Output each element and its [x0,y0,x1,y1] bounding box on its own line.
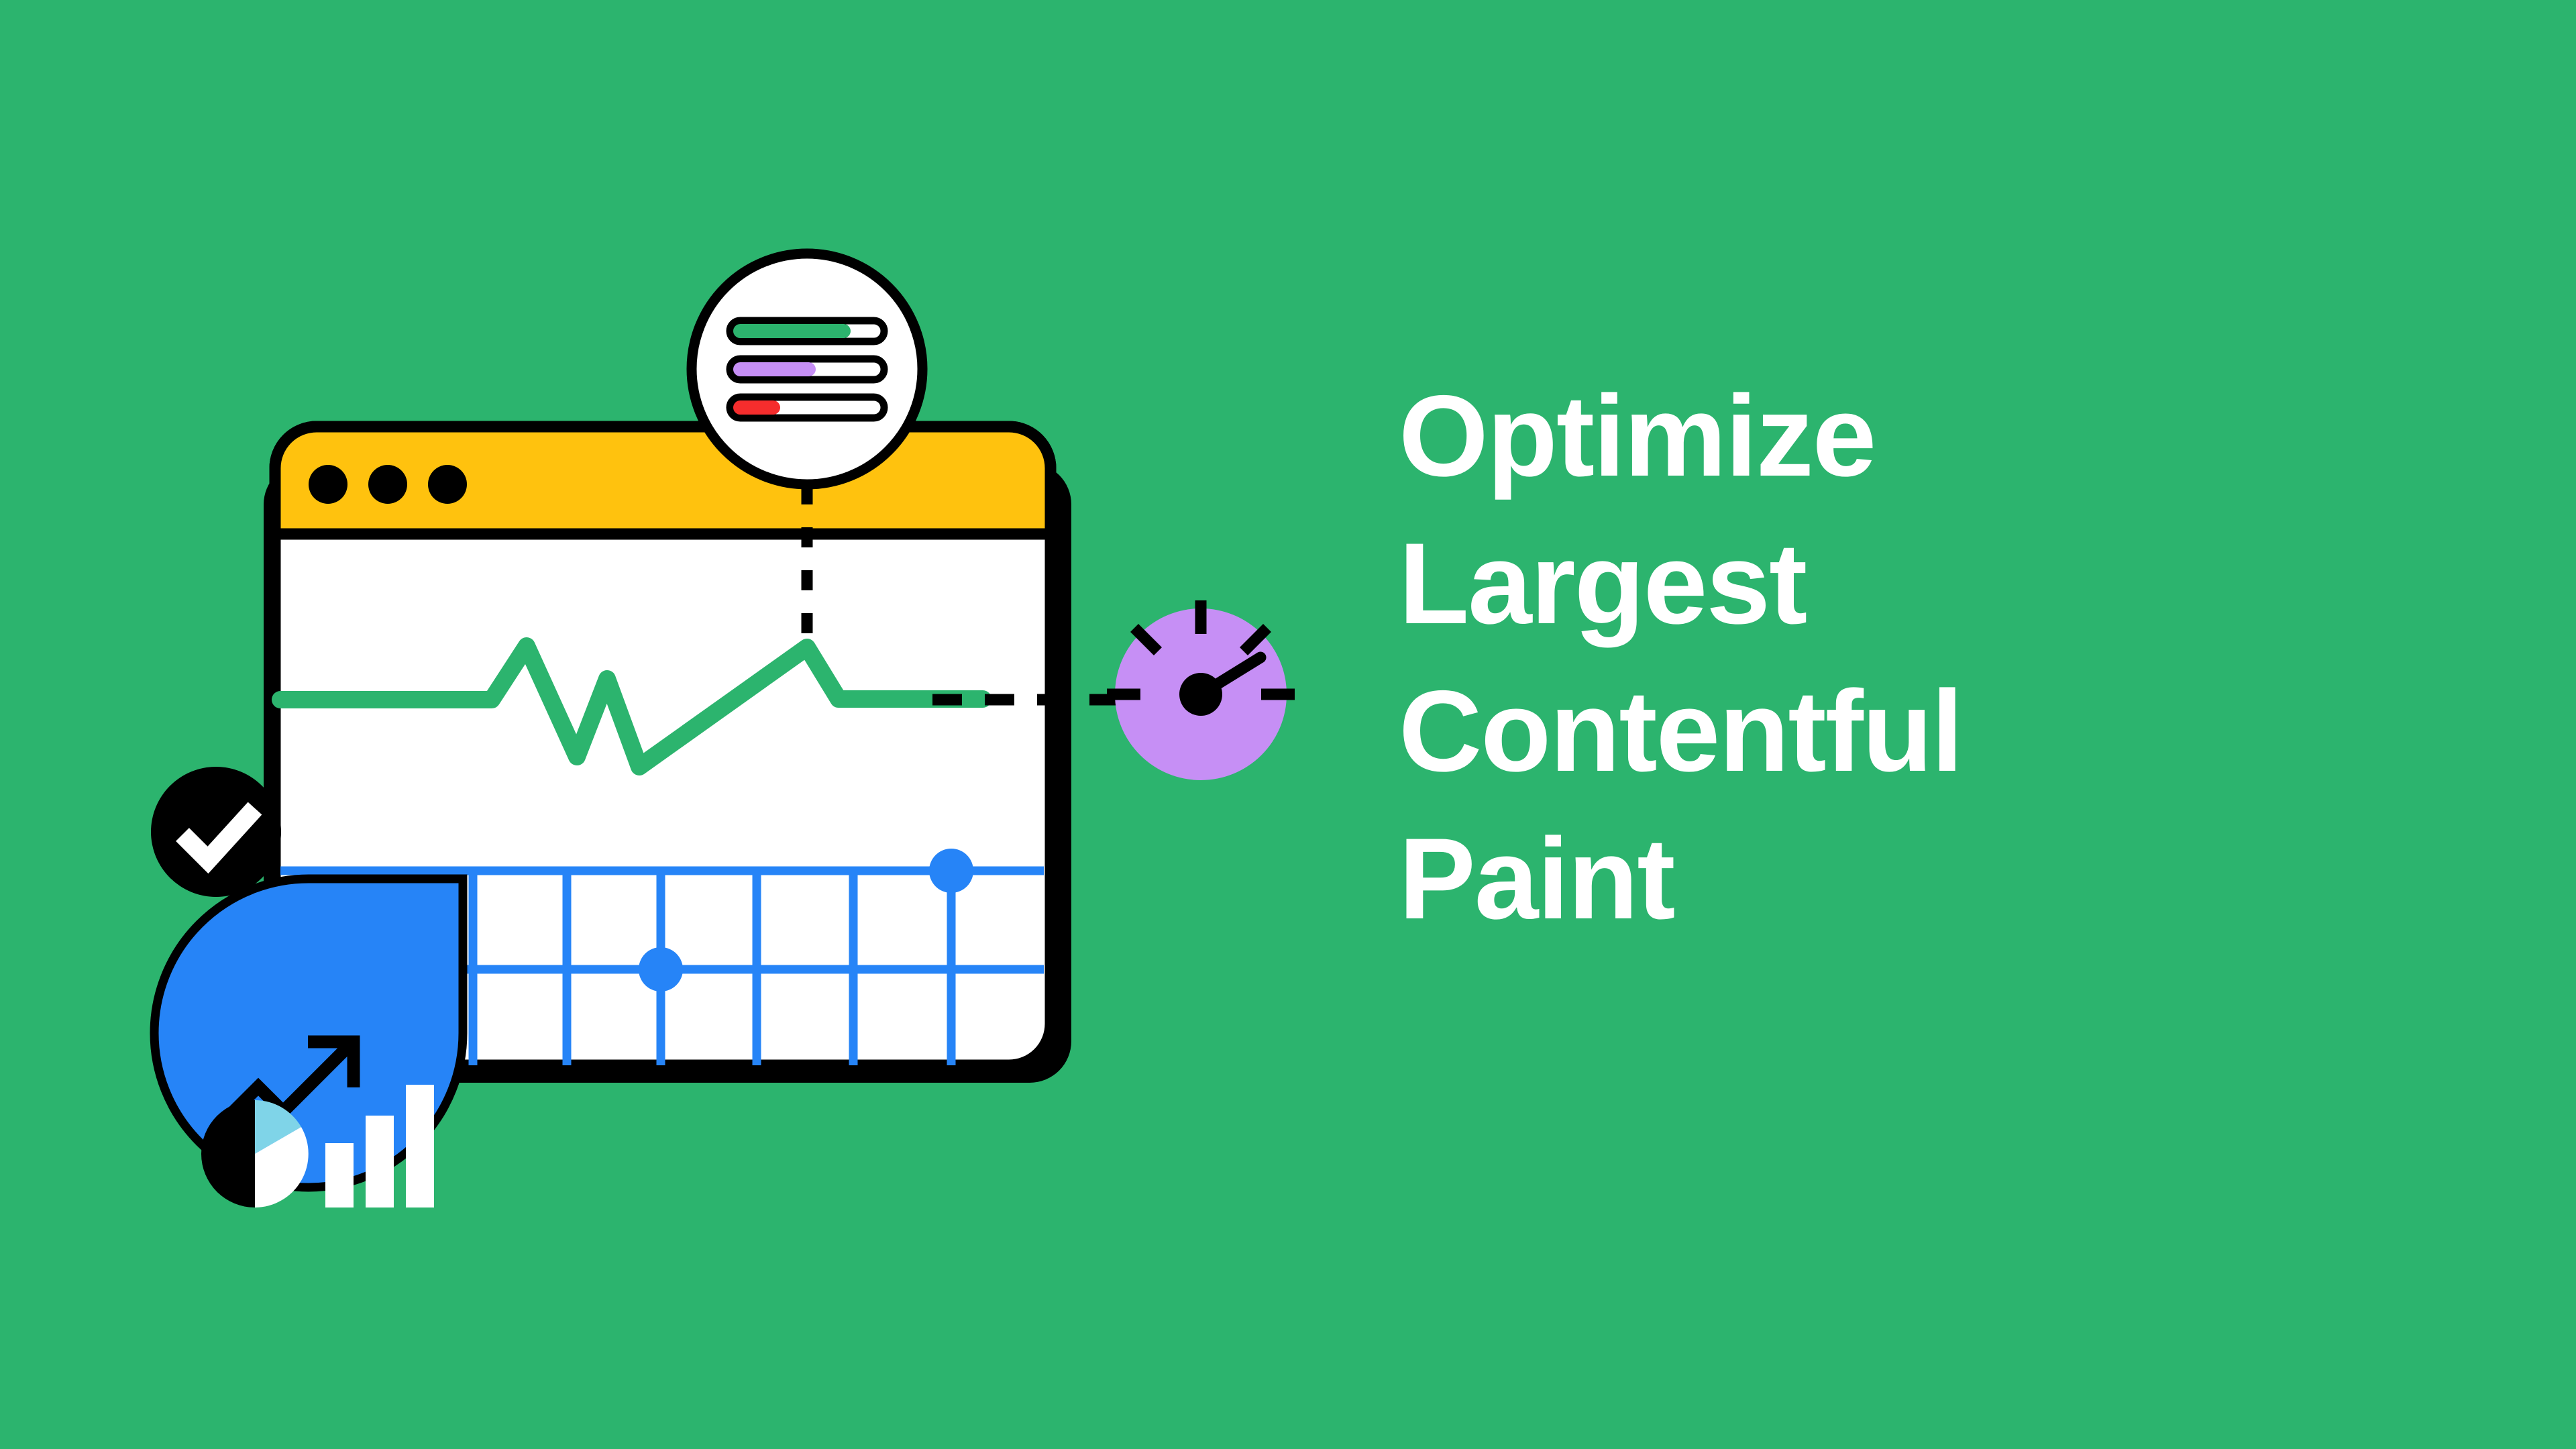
shield-bar-2 [366,1116,394,1207]
pie-chart-icon [201,1100,309,1207]
dot-minimize-icon[interactable] [368,465,407,504]
illustration-canvas: Optimize Largest Contentful Paint [0,0,2576,1449]
metric-bar-fill-poor [733,400,780,415]
dot-close-icon[interactable] [309,465,347,504]
check-badge[interactable] [151,767,281,897]
dot-maximize-icon[interactable] [428,465,467,504]
shield-bar-1 [325,1143,354,1207]
page-title: Optimize Largest Contentful Paint [1399,362,2405,953]
shield-bar-3 [406,1085,434,1207]
metric-bar-fill-good [733,324,851,338]
gauge-hub [1179,673,1222,716]
metric-bar-fill-needs-improvement [733,362,816,376]
grid-marker-upper-right[interactable] [929,849,973,893]
grid-marker-mid-left[interactable] [639,947,683,991]
window-titlebar [275,427,1051,534]
check-badge-circle [151,767,281,897]
metrics-badge[interactable] [692,254,922,484]
